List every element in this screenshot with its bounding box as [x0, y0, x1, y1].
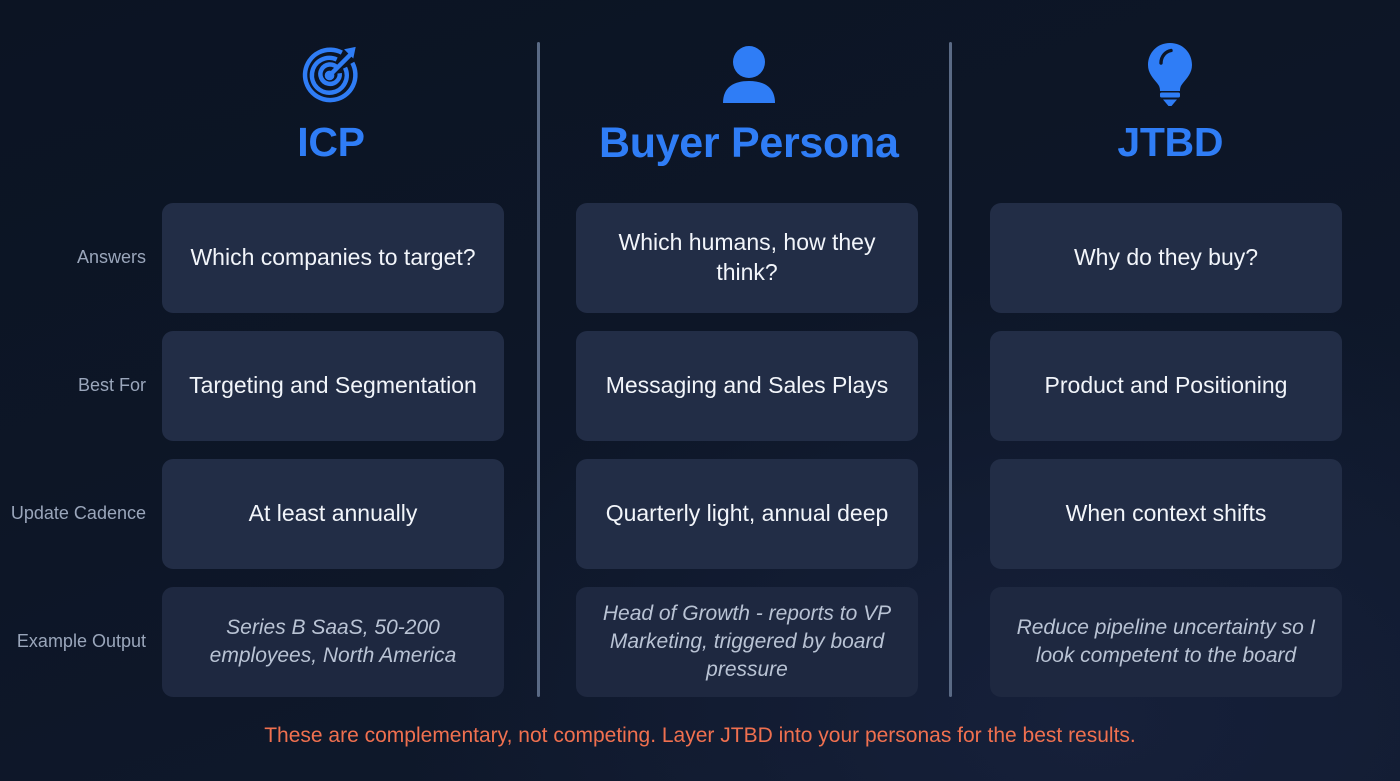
- person-icon: [721, 38, 777, 110]
- cell-persona-example-output: Head of Growth - reports to VP Marketing…: [576, 587, 918, 697]
- row-label-example-output: Example Output: [0, 587, 148, 697]
- comparison-board: ICP Buyer Persona JTBD: [0, 0, 1400, 781]
- cell-jtbd-update-cadence: When context shifts: [990, 459, 1342, 569]
- column-header-icp: ICP: [160, 38, 502, 183]
- table-row: Update Cadence At least annually Quarter…: [0, 459, 1400, 569]
- table-row: Answers Which companies to target? Which…: [0, 203, 1400, 313]
- row-label-answers: Answers: [0, 203, 148, 313]
- cell-jtbd-example-output: Reduce pipeline uncertainty so I look co…: [990, 587, 1342, 697]
- cell-jtbd-answers: Why do they buy?: [990, 203, 1342, 313]
- cell-persona-answers: Which humans, how they think?: [576, 203, 918, 313]
- cell-icp-answers: Which companies to target?: [162, 203, 504, 313]
- cell-jtbd-best-for: Product and Positioning: [990, 331, 1342, 441]
- cell-persona-best-for: Messaging and Sales Plays: [576, 331, 918, 441]
- column-header-persona: Buyer Persona: [574, 38, 924, 183]
- comparison-grid: Answers Which companies to target? Which…: [0, 203, 1400, 715]
- table-row: Example Output Series B SaaS, 50-200 emp…: [0, 587, 1400, 697]
- cell-icp-update-cadence: At least annually: [162, 459, 504, 569]
- row-label-update-cadence: Update Cadence: [0, 459, 148, 569]
- table-row: Best For Targeting and Segmentation Mess…: [0, 331, 1400, 441]
- cell-icp-example-output: Series B SaaS, 50-200 employees, North A…: [162, 587, 504, 697]
- column-title: JTBD: [1117, 122, 1223, 163]
- row-label-best-for: Best For: [0, 331, 148, 441]
- column-title: Buyer Persona: [599, 122, 899, 165]
- column-headers: ICP Buyer Persona JTBD: [160, 38, 1345, 183]
- column-title: ICP: [297, 122, 364, 163]
- lightbulb-icon: [1144, 38, 1196, 110]
- column-header-jtbd: JTBD: [996, 38, 1346, 183]
- footer-note: These are complementary, not competing. …: [0, 724, 1400, 748]
- target-icon: [300, 38, 362, 110]
- cell-persona-update-cadence: Quarterly light, annual deep: [576, 459, 918, 569]
- cell-icp-best-for: Targeting and Segmentation: [162, 331, 504, 441]
